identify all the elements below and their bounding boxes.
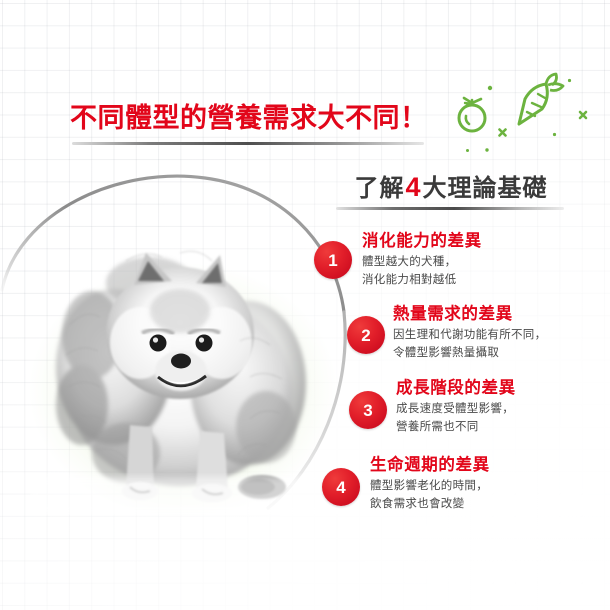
point-body-line: 成長速度受體型影響， <box>396 401 516 418</box>
point-text-block: 成長階段的差異 成長速度受體型影響， 營養所需也不同 <box>396 379 516 435</box>
point-text-block: 生命週期的差異 體型影響老化的時間， 飲食需求也會改變 <box>370 456 490 512</box>
point-body-line: 營養所需也不同 <box>396 419 516 436</box>
point-text-block: 消化能力的差異 體型越大的犬種， 消化能力相對越低 <box>362 232 482 288</box>
point-text-block: 熱量需求的差異 因生理和代謝功能有所不同， 令體型影響熱量攝取 <box>393 305 546 361</box>
point-title: 熱量需求的差異 <box>393 305 546 324</box>
title-divider <box>72 142 424 145</box>
point-number-badge: 2 <box>347 316 385 354</box>
point-number-badge: 4 <box>322 468 360 506</box>
page-title: 不同體型的營養需求大不同！ <box>70 96 428 135</box>
point-title: 成長階段的差異 <box>396 379 516 398</box>
point-number-badge: 3 <box>349 391 387 429</box>
point-body-line: 飲食需求也會改變 <box>370 496 490 513</box>
point-body-line: 令體型影響熱量攝取 <box>393 345 546 362</box>
subtitle: 了解4大理論基礎 <box>336 168 566 203</box>
subtitle-prefix: 了解 <box>354 175 404 202</box>
subtitle-suffix: 大理論基礎 <box>423 175 548 202</box>
point-body-line: 消化能力相對越低 <box>362 272 482 289</box>
point-body-line: 體型影響老化的時間， <box>370 478 490 495</box>
point-title: 生命週期的差異 <box>370 456 490 475</box>
infographic-poster: 不同體型的營養需求大不同！ 了解4大理論基礎 1 消化能力的差異 體型越大的犬種… <box>0 0 610 610</box>
subtitle-number: 4 <box>404 172 422 202</box>
point-title: 消化能力的差異 <box>362 232 482 251</box>
point-number-badge: 1 <box>314 241 352 279</box>
subtitle-divider <box>336 207 564 210</box>
point-body-line: 因生理和代謝功能有所不同， <box>393 327 546 344</box>
point-body-line: 體型越大的犬種， <box>362 254 482 271</box>
